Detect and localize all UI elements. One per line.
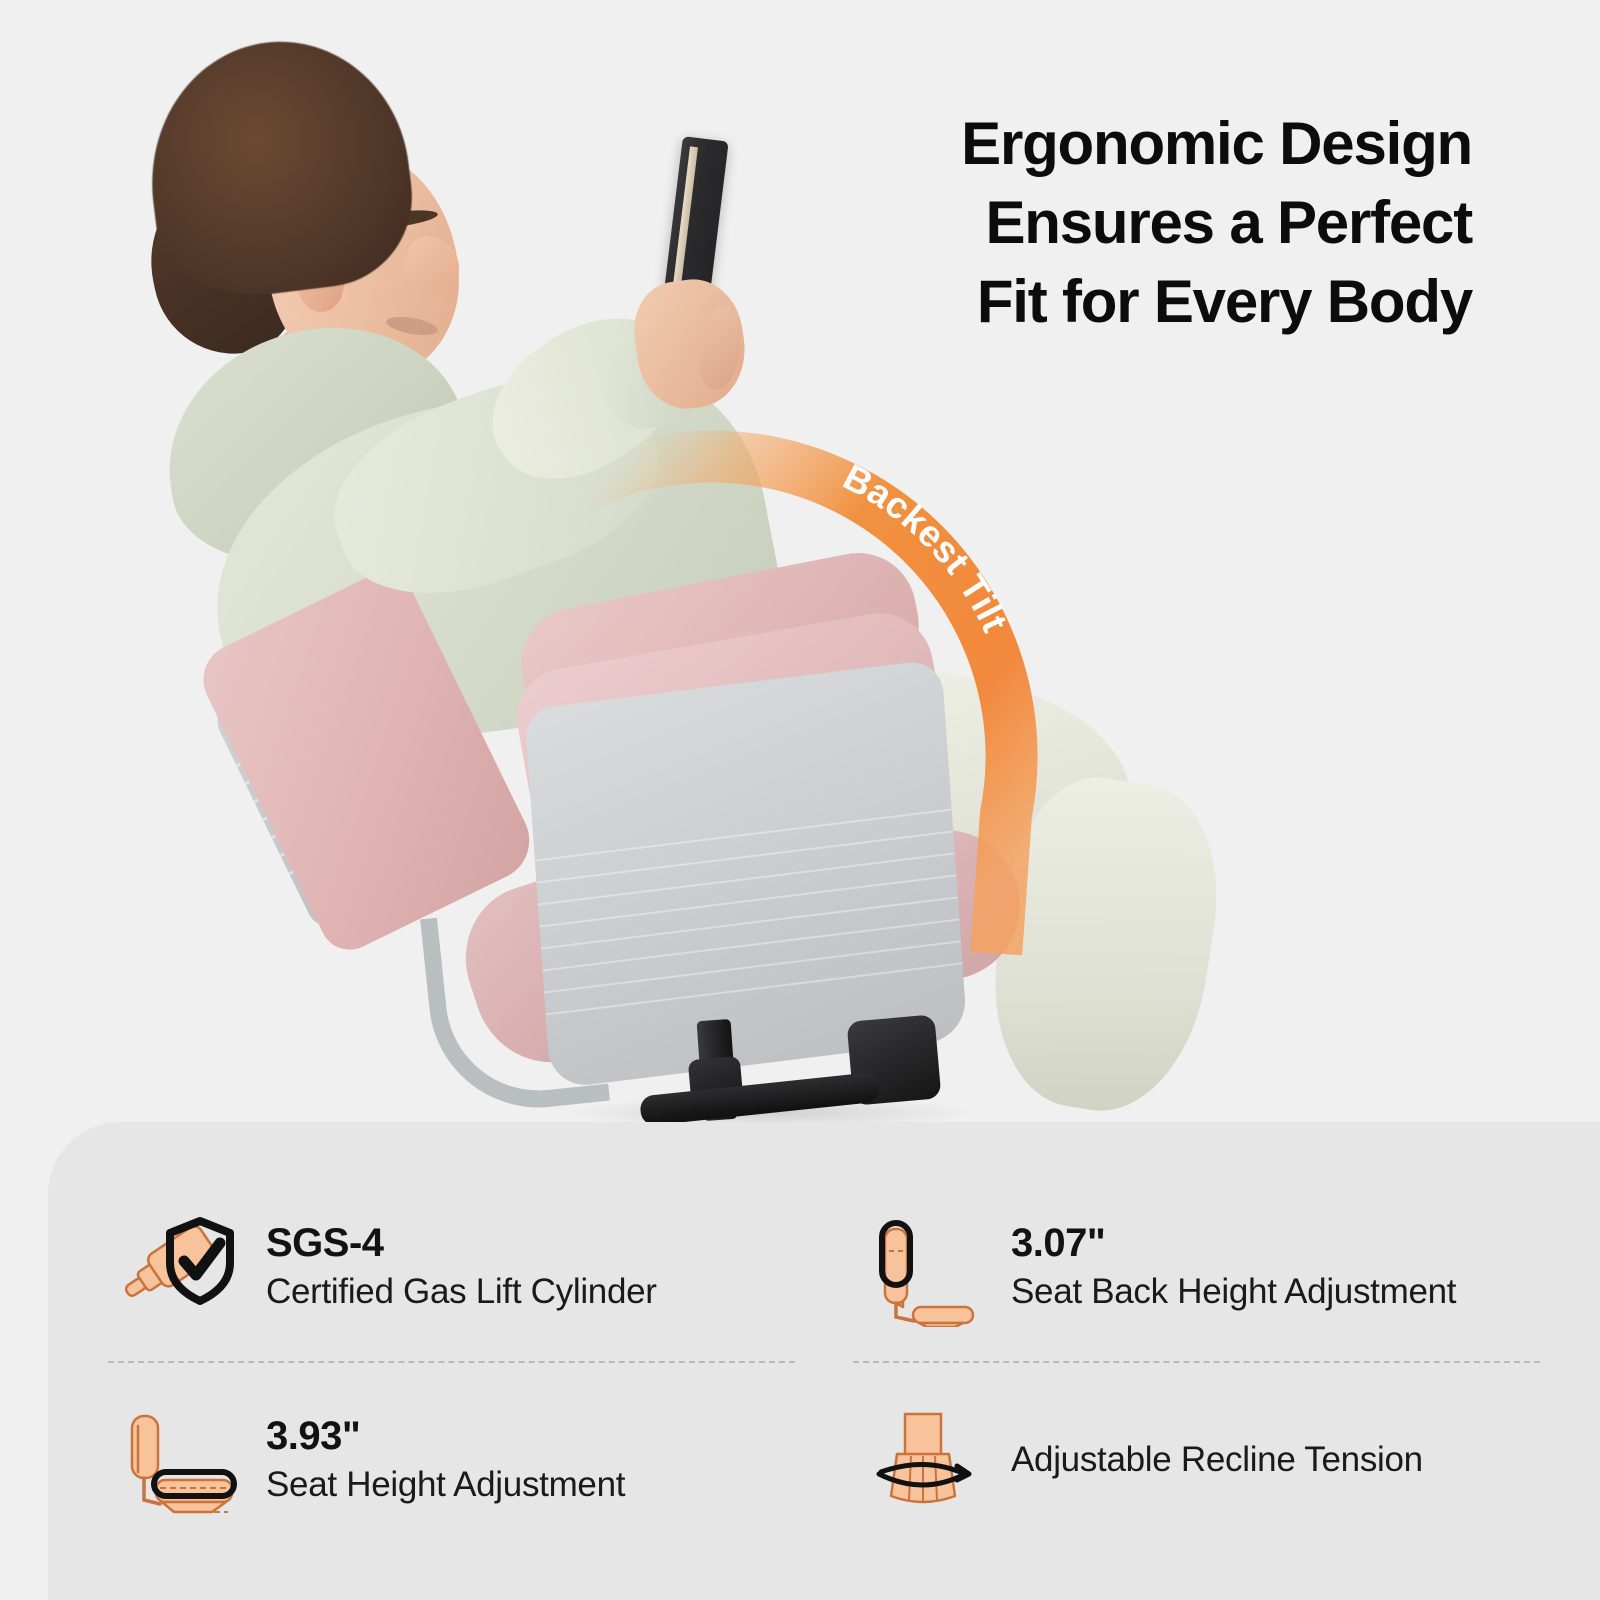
feature-value: 3.93" [266,1413,625,1460]
feature-label: Adjustable Recline Tension [1011,1439,1423,1481]
feature-text-recline-tension: Adjustable Recline Tension [1011,1439,1423,1481]
feature-item-seat-back-height: 3.07" Seat Back Height Adjustment [853,1170,1540,1363]
seat-height-adjust-icon [114,1400,240,1520]
gas-cylinder-shield-check-icon [114,1207,240,1327]
feature-value: 3.07" [1011,1220,1456,1267]
feature-label: Seat Height Adjustment [266,1464,625,1506]
feature-label: Seat Back Height Adjustment [1011,1271,1456,1313]
feature-label: Certified Gas Lift Cylinder [266,1271,657,1313]
hair-shape [136,27,423,307]
seat-back-height-adjust-icon [859,1207,985,1327]
feature-text-seat-back-height: 3.07" Seat Back Height Adjustment [1011,1220,1456,1313]
recline-tension-knob-icon [859,1400,985,1520]
feature-panel: SGS-4 Certified Gas Lift Cylinder [48,1122,1600,1600]
feature-item-gas-lift-cylinder: SGS-4 Certified Gas Lift Cylinder [108,1170,795,1363]
headline-line-2: Ensures a Perfect [852,183,1472,262]
headline-line-1: Ergonomic Design [852,104,1472,183]
headline-line-3: Fit for Every Body [852,262,1472,341]
feature-value: SGS-4 [266,1220,657,1267]
feature-grid: SGS-4 Certified Gas Lift Cylinder [108,1170,1540,1556]
feature-text-seat-height: 3.93" Seat Height Adjustment [266,1413,625,1506]
page-title: Ergonomic Design Ensures a Perfect Fit f… [852,104,1472,341]
feature-text-gas-lift-cylinder: SGS-4 Certified Gas Lift Cylinder [266,1220,657,1313]
feature-item-recline-tension: Adjustable Recline Tension [853,1363,1540,1556]
backest-tilt-arc [540,380,1080,1120]
feature-item-seat-height: 3.93" Seat Height Adjustment [108,1363,795,1556]
